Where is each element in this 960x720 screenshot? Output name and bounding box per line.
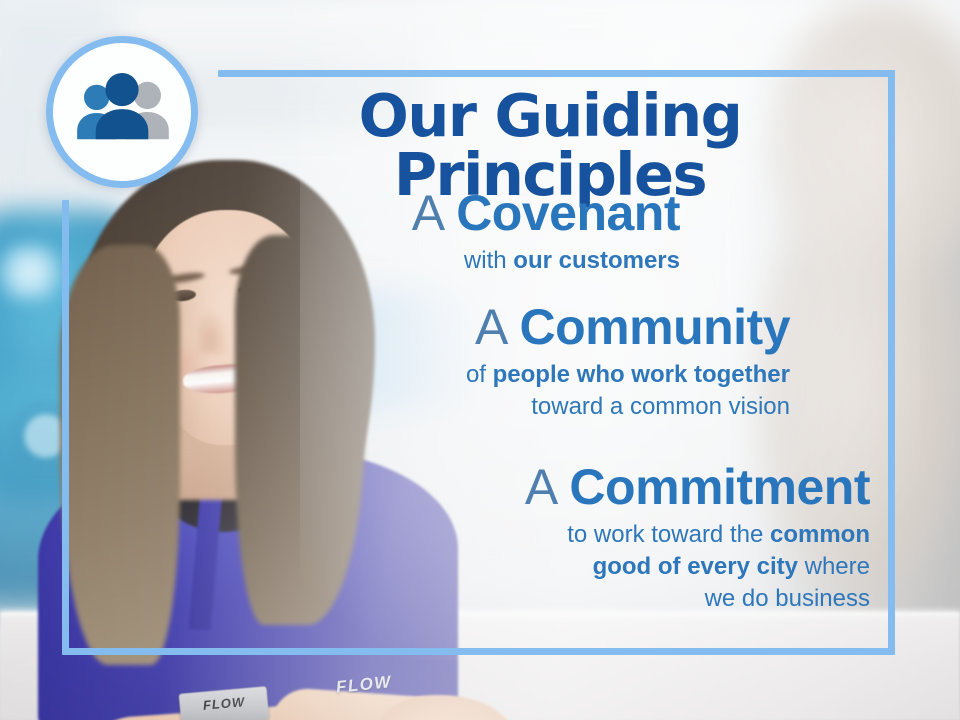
- frame-border-top: [218, 70, 895, 77]
- principle-community: A Community of people who work together …: [200, 302, 790, 423]
- principle-community-heading: A Community: [200, 302, 790, 353]
- principle-covenant-heading: A Covenant: [160, 188, 680, 239]
- commitment-detail-bold-1: common: [770, 521, 870, 548]
- principle-commitment: A Commitment to work toward the common g…: [250, 462, 870, 615]
- principle-covenant-detail: with our customers: [160, 245, 680, 277]
- community-detail-bold-1: people who work together: [493, 361, 790, 388]
- principle-commitment-heading: A Commitment: [250, 462, 870, 513]
- principle-commitment-keyword: Commitment: [569, 459, 870, 515]
- community-detail-plain-2: toward a common vision: [531, 393, 790, 420]
- group-of-people-badge: [46, 36, 198, 188]
- frame-border-left: [62, 200, 69, 655]
- commitment-detail-bold-2: good of every city: [593, 553, 798, 580]
- group-of-people-icon: [73, 73, 171, 151]
- commitment-detail-plain-3: we do business: [705, 585, 870, 612]
- covenant-detail-bold-1: our customers: [513, 247, 680, 274]
- promo-card: FLOW FLOW Our Guiding Principles A Coven…: [0, 0, 960, 720]
- commitment-detail-plain-1: to work toward the: [567, 521, 770, 548]
- principle-covenant-article: A: [412, 185, 443, 241]
- covenant-detail-plain-1: with: [464, 247, 513, 274]
- commitment-detail-plain-2: where: [798, 553, 870, 580]
- principle-commitment-article: A: [525, 459, 556, 515]
- principle-community-detail: of people who work together toward a com…: [200, 359, 790, 423]
- principle-commitment-detail: to work toward the common good of every …: [250, 519, 870, 615]
- principle-covenant: A Covenant with our customers: [160, 188, 680, 277]
- frame-border-bottom: [62, 648, 895, 655]
- principle-community-keyword: Community: [520, 299, 791, 355]
- principle-community-article: A: [475, 299, 506, 355]
- principle-covenant-keyword: Covenant: [456, 185, 680, 241]
- community-detail-plain-1: of: [466, 361, 493, 388]
